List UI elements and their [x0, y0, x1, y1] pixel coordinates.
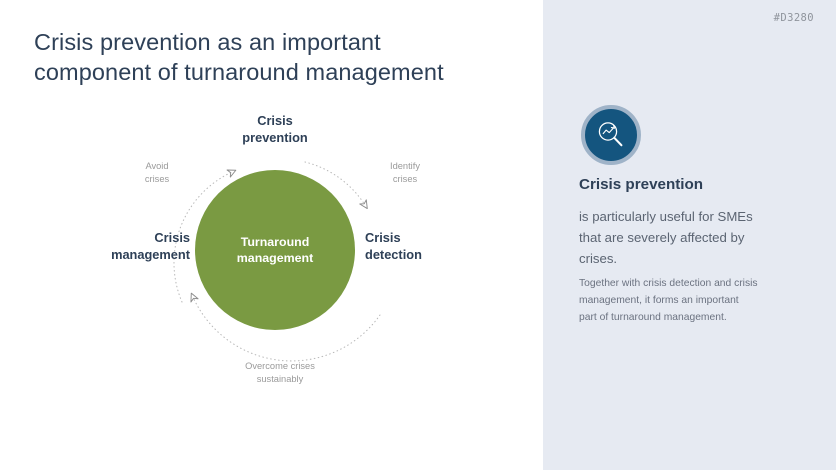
page-title-line-2: component of turnaround management: [34, 57, 514, 87]
edge-overcome-crises-line-1: Overcome crises: [220, 360, 340, 373]
magnifier-chart-icon: [581, 105, 641, 165]
node-crisis-detection-line-1: Crisis: [365, 230, 485, 247]
edge-overcome-crises: Overcome crises sustainably: [220, 360, 340, 386]
turnaround-management-label: Turnaround management: [195, 170, 355, 330]
edge-identify-crises-line-1: Identify: [360, 160, 450, 173]
center-label-line-1: Turnaround: [237, 234, 313, 250]
node-crisis-prevention-line-1: Crisis: [215, 113, 335, 130]
edge-overcome-crises-line-2: sustainably: [220, 373, 340, 386]
node-crisis-management-line-1: Crisis: [70, 230, 190, 247]
page-title: Crisis prevention as an important compon…: [34, 27, 514, 87]
edge-identify-crises: Identify crises: [360, 160, 450, 186]
panel-body-text: Together with crisis detection and crisi…: [579, 275, 759, 326]
edge-avoid-crises: Avoid crises: [112, 160, 202, 186]
panel-lead-text: is particularly useful for SMEs that are…: [579, 206, 759, 269]
edge-identify-crises-line-2: crises: [360, 173, 450, 186]
center-label-line-2: management: [237, 250, 313, 266]
left-content-area: Crisis prevention as an important compon…: [0, 0, 543, 470]
document-code: #D3280: [774, 12, 814, 24]
slide-canvas: Crisis prevention as an important compon…: [0, 0, 836, 470]
edge-avoid-crises-line-1: Avoid: [112, 160, 202, 173]
node-crisis-detection: Crisis detection: [365, 230, 485, 263]
node-crisis-detection-line-2: detection: [365, 247, 485, 264]
node-crisis-management-line-2: management: [70, 247, 190, 264]
node-crisis-management: Crisis management: [70, 230, 190, 263]
edge-avoid-crises-line-2: crises: [112, 173, 202, 186]
node-crisis-prevention-line-2: prevention: [215, 130, 335, 147]
magnifier-chart-glyph: [594, 118, 628, 152]
page-title-line-1: Crisis prevention as an important: [34, 27, 514, 57]
cycle-diagram: Turnaround management Crisis prevention …: [60, 100, 500, 410]
node-crisis-prevention: Crisis prevention: [215, 113, 335, 146]
panel-heading: Crisis prevention: [579, 176, 814, 193]
side-panel: #D3280 Crisis prevention is particularly…: [543, 0, 836, 470]
